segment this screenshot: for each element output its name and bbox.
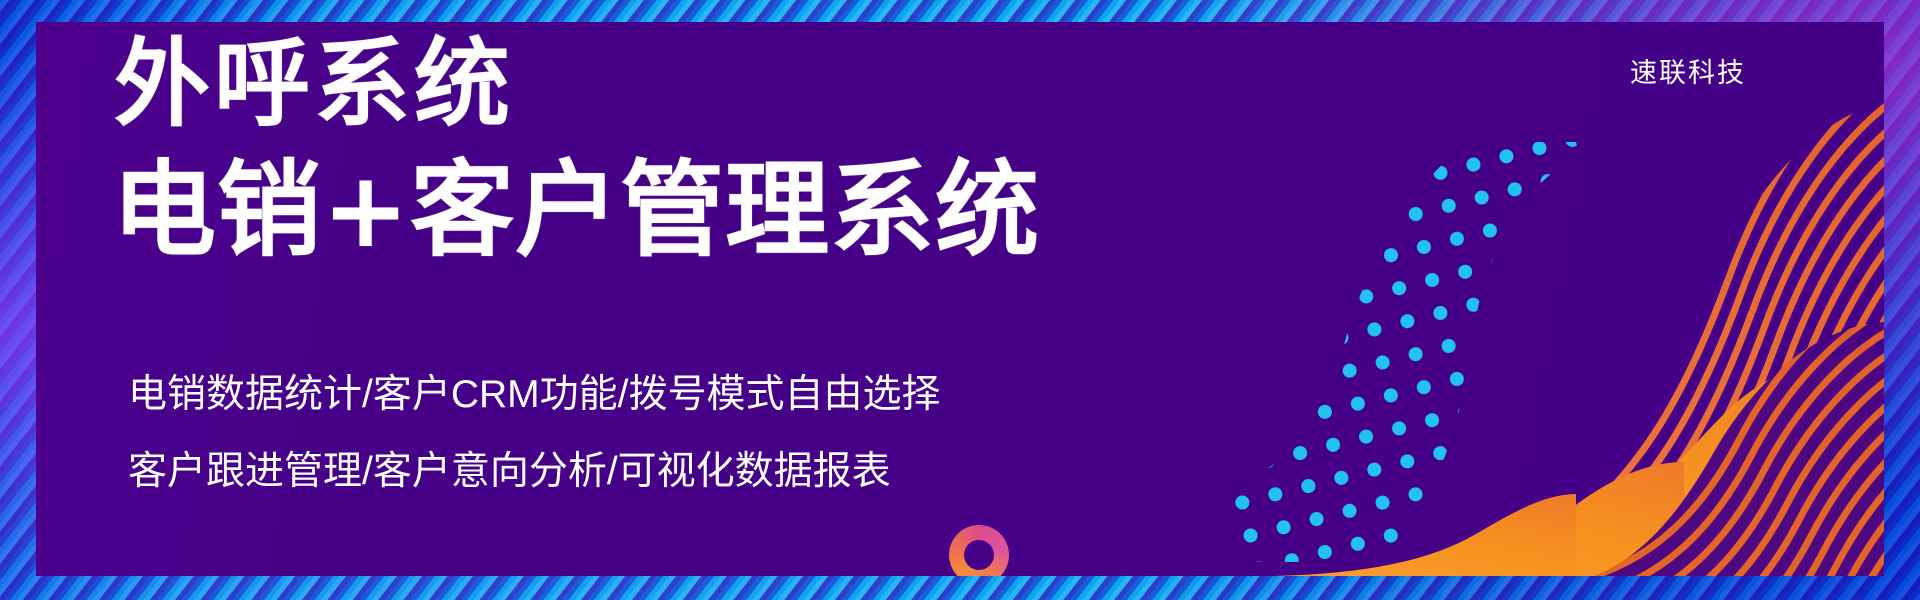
banner-card: 外呼系统 电销+客户管理系统 电销数据统计/客户CRM功能/拨号模式自由选择 客…: [36, 22, 1884, 576]
brand-name: 速联科技: [1630, 56, 1746, 90]
feature-line-1: 电销数据统计/客户CRM功能/拨号模式自由选择: [128, 370, 941, 420]
gradient-ring-icon: [949, 525, 1009, 576]
headline-line-2: 电销+客户管理系统: [112, 150, 1040, 270]
feature-line-2: 客户跟进管理/客户意向分析/可视化数据报表: [128, 447, 891, 497]
headline-line-1: 外呼系统: [114, 28, 514, 140]
banner-content: 外呼系统 电销+客户管理系统 电销数据统计/客户CRM功能/拨号模式自由选择 客…: [76, 22, 1376, 576]
promo-banner: 外呼系统 电销+客户管理系统 电销数据统计/客户CRM功能/拨号模式自由选择 客…: [0, 0, 1920, 600]
